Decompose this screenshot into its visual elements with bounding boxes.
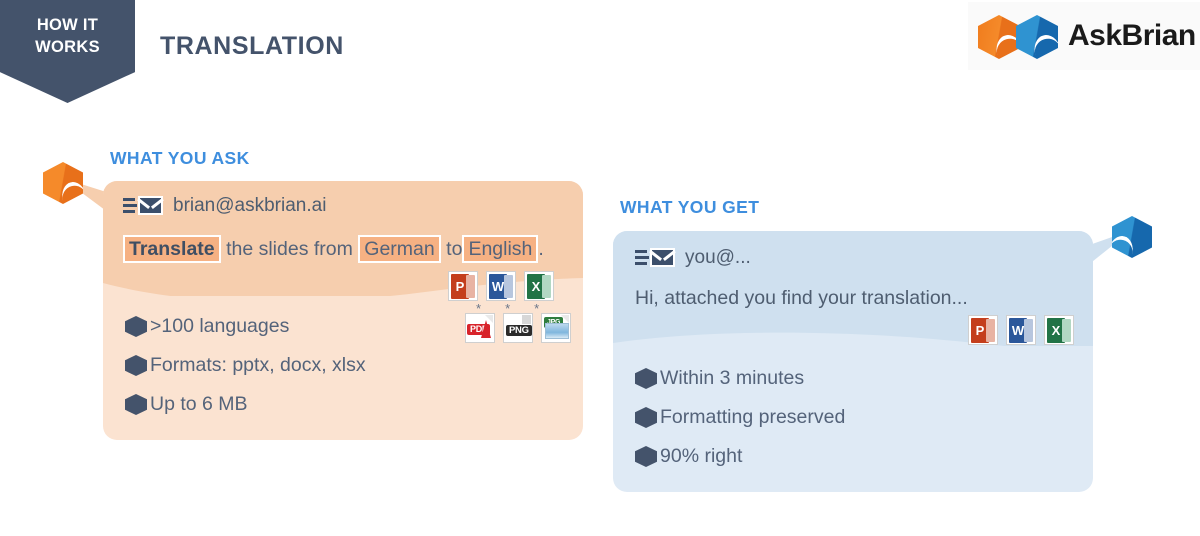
logo-hexagon-orange-icon	[978, 15, 1020, 59]
page-title: TRANSLATION	[160, 32, 344, 61]
logo-hexagons	[978, 13, 1058, 59]
get-bullet-list: Within 3 minutes Formatting preserved 90…	[635, 367, 845, 484]
word-file-icon: W	[1006, 315, 1036, 345]
bullet-hexagon-icon	[635, 407, 657, 428]
avatar-smile-orange-icon	[59, 180, 87, 204]
powerpoint-icon-letter: P	[976, 323, 985, 338]
get-bullet-text-3: 90% right	[660, 445, 742, 468]
get-bullet-text-2: Formatting preserved	[660, 406, 845, 429]
bullet-hexagon-icon	[125, 394, 147, 415]
avatar-orange-hexagon-icon	[43, 162, 83, 204]
png-icon-label: PNG	[506, 325, 532, 336]
highlight-target-language: English	[462, 235, 538, 263]
excel-file-icon: X	[1044, 315, 1074, 345]
highlight-translate: Translate	[123, 235, 221, 263]
how-it-works-badge: HOW IT WORKS	[0, 0, 135, 103]
bullet-hexagon-icon	[635, 368, 657, 389]
sentence-period: .	[538, 238, 543, 260]
pdf-file-icon: PDF	[465, 313, 495, 343]
get-bubble-body: you@... Hi, attached you find your trans…	[613, 231, 1093, 492]
excel-file-icon: X	[524, 271, 554, 301]
highlight-source-language: German	[358, 235, 440, 263]
excel-icon-letter: X	[532, 279, 541, 294]
get-reply-sentence: Hi, attached you find your translation..…	[635, 287, 968, 310]
logo-hexagon-blue-icon	[1016, 15, 1058, 59]
list-item: Formatting preserved	[635, 406, 845, 429]
logo-smile-blue-icon	[1031, 32, 1062, 58]
word-icon-letter: W	[492, 279, 504, 294]
envelope-send-icon	[123, 195, 165, 217]
askbrian-logo: AskBrian	[968, 2, 1200, 70]
badge-line-2: WORKS	[35, 36, 100, 58]
powerpoint-file-icon: P	[968, 315, 998, 345]
ask-bubble-body: brian@askbrian.ai Translate the slides f…	[103, 181, 583, 440]
logo-wordmark: AskBrian	[1068, 19, 1196, 53]
ask-email-address: brian@askbrian.ai	[173, 195, 326, 217]
list-item: Formats: pptx, docx, xlsx	[125, 354, 366, 377]
powerpoint-icon-letter: P	[456, 279, 465, 294]
powerpoint-file-icon: P	[448, 271, 478, 301]
list-item: Up to 6 MB	[125, 393, 366, 416]
ask-request-sentence: Translate the slides from German toEngli…	[123, 235, 544, 263]
list-item: 90% right	[635, 445, 845, 468]
envelope-receive-icon	[635, 247, 677, 269]
ask-bullet-text-1: >100 languages	[150, 315, 289, 338]
word-icon-letter: W	[1012, 323, 1024, 338]
get-bullet-text-1: Within 3 minutes	[660, 367, 804, 390]
badge-line-1: HOW IT	[37, 14, 98, 36]
ask-bullet-text-2: Formats: pptx, docx, xlsx	[150, 354, 366, 377]
bullet-hexagon-icon	[635, 446, 657, 467]
get-email-line: you@...	[635, 247, 751, 269]
sentence-text-2: to	[446, 238, 462, 260]
ask-file-icons-row-top: P W X * * *	[448, 271, 554, 314]
get-email-address: you@...	[685, 247, 751, 269]
avatar-smile-blue-icon	[1108, 234, 1136, 258]
ask-bullet-list: >100 languages Formats: pptx, docx, xlsx…	[125, 315, 366, 432]
list-item: Within 3 minutes	[635, 367, 845, 390]
bullet-hexagon-icon	[125, 316, 147, 337]
bullet-hexagon-icon	[125, 355, 147, 376]
png-file-icon: PNG	[503, 313, 533, 343]
get-file-icons-row: P W X	[968, 315, 1074, 345]
sentence-text-1: the slides from	[226, 238, 353, 260]
list-item: >100 languages	[125, 315, 366, 338]
section-label-what-you-ask: WHAT YOU ASK	[110, 148, 250, 169]
what-you-ask-bubble: brian@askbrian.ai Translate the slides f…	[103, 181, 583, 440]
excel-icon-letter: X	[1052, 323, 1061, 338]
what-you-get-bubble: you@... Hi, attached you find your trans…	[613, 231, 1093, 492]
jpg-image-file-icon: JPG	[541, 313, 571, 343]
ask-bullet-text-3: Up to 6 MB	[150, 393, 248, 416]
ask-email-line: brian@askbrian.ai	[123, 195, 326, 217]
ask-file-icons-row-bottom: PDF PNG JPG	[465, 313, 571, 343]
avatar-blue-hexagon-icon	[1112, 216, 1152, 258]
section-label-what-you-get: WHAT YOU GET	[620, 197, 759, 218]
word-file-icon: W	[486, 271, 516, 301]
